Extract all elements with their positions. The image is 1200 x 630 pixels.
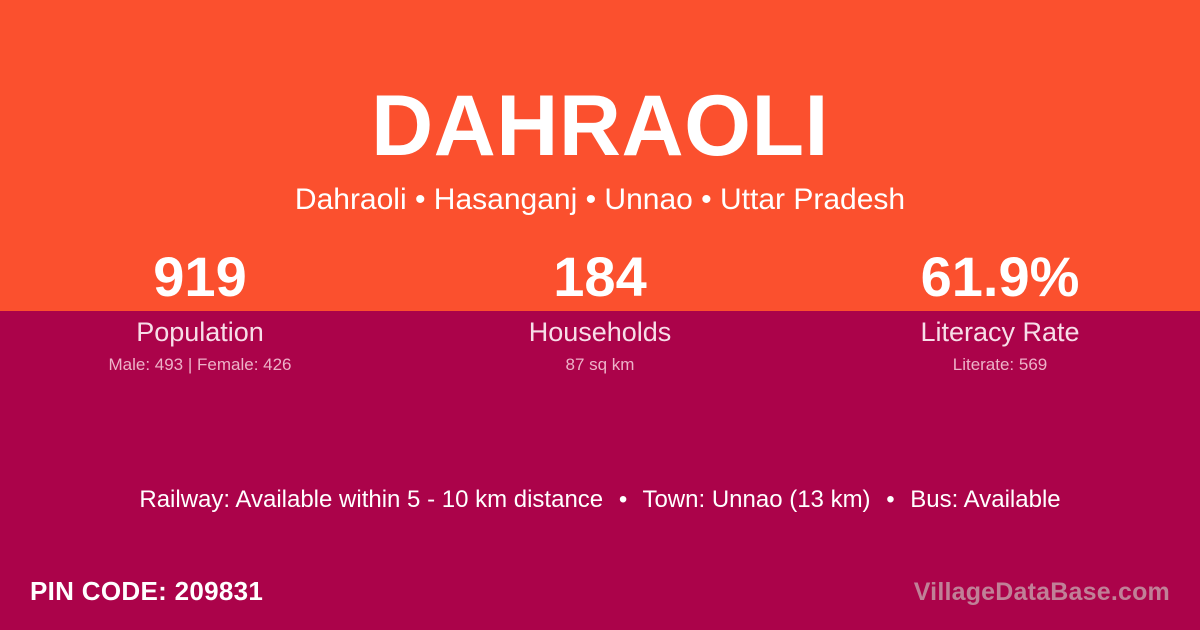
town-info: Town: Unnao (13 km) — [642, 486, 870, 513]
stat-sublabel: Literate: 569 — [800, 353, 1200, 377]
site-watermark: VillageDataBase.com — [914, 576, 1170, 608]
bullet-separator-icon: • — [610, 485, 636, 515]
stat-population: 919 Population Male: 493 | Female: 426 — [0, 243, 400, 388]
pin-code: PIN CODE: 209831 — [30, 575, 263, 607]
village-info-card: DAHRAOLI Dahraoli • Hasanganj • Unnao • … — [0, 0, 1200, 630]
stat-value: 184 — [400, 243, 800, 311]
page-title: DAHRAOLI — [0, 80, 1200, 172]
transit-info: Railway: Available within 5 - 10 km dist… — [0, 485, 1200, 515]
stat-label: Households — [400, 315, 800, 349]
stat-sublabel: 87 sq km — [400, 353, 800, 377]
breadcrumb: Dahraoli • Hasanganj • Unnao • Uttar Pra… — [0, 182, 1200, 218]
stat-households: 184 Households 87 sq km — [400, 243, 800, 388]
stat-label: Literacy Rate — [800, 315, 1200, 349]
bullet-separator-icon: • — [877, 485, 903, 515]
stat-literacy-rate: 61.9% Literacy Rate Literate: 569 — [800, 243, 1200, 388]
stat-value: 61.9% — [800, 243, 1200, 311]
stats-row: 919 Population Male: 493 | Female: 426 1… — [0, 243, 1200, 388]
stat-sublabel: Male: 493 | Female: 426 — [0, 353, 400, 377]
bus-info: Bus: Available — [910, 486, 1060, 513]
stat-value: 919 — [0, 243, 400, 311]
railway-info: Railway: Available within 5 - 10 km dist… — [139, 486, 603, 513]
stat-label: Population — [0, 315, 400, 349]
